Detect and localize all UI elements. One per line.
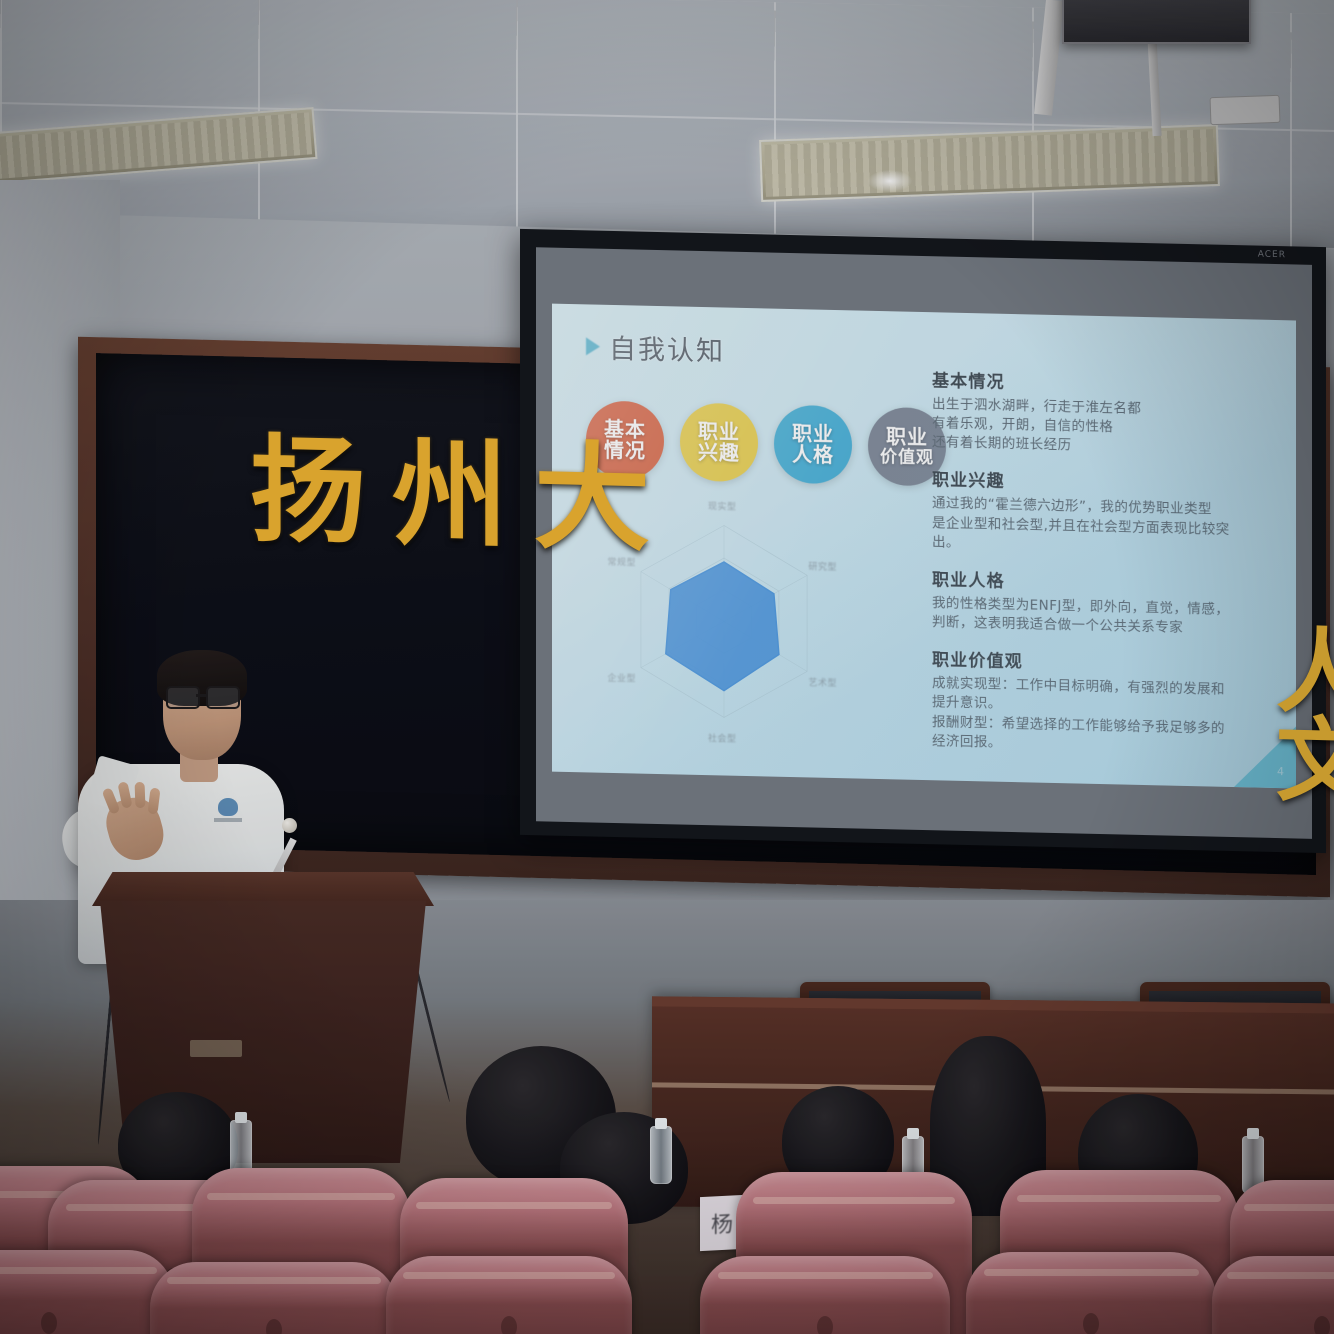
section-heading-1: 职业兴趣 — [932, 466, 1296, 500]
radar-axis-label-1: 研究型 — [808, 559, 837, 573]
screen-brand-label: ACER — [1258, 250, 1286, 261]
triangle-right-icon — [586, 337, 600, 355]
seat-row-front-2 — [150, 1262, 398, 1334]
slide-title-row: 自我认知 — [586, 326, 725, 368]
microphone-head — [282, 818, 297, 833]
topic-circle-career-personality: 职业人格 — [774, 405, 852, 485]
venue-char-2: 大 — [534, 439, 650, 558]
circle-label-line1: 职业 — [886, 427, 928, 449]
venue-char-1: 州 — [392, 436, 508, 555]
section-heading-2: 职业人格 — [932, 565, 1296, 599]
radar-axis-label-2: 艺术型 — [808, 675, 837, 689]
venue-char-0: 扬 — [250, 432, 366, 551]
glasses-lens-right — [206, 686, 240, 709]
section-body-0: 出生于泗水湖畔，行走于淮左名都有着乐观，开朗，自信的性格还有着长期的班长经历 — [932, 395, 1296, 461]
seat-row-front-5 — [966, 1252, 1216, 1334]
glasses-bridge — [196, 694, 208, 697]
venue-name-characters: 扬州大 — [250, 432, 650, 558]
radar-axis-label-4: 企业型 — [608, 671, 637, 685]
page-title: 自我认知 — [609, 327, 725, 369]
ceiling-projector — [1062, 0, 1251, 44]
section-heading-3: 职业价值观 — [932, 645, 1296, 679]
glasses-icon — [166, 686, 240, 706]
section-heading-0: 基本情况 — [932, 366, 1296, 400]
podium-plate — [190, 1040, 242, 1057]
seat-row-front-1 — [0, 1250, 174, 1334]
water-bottle-4 — [650, 1126, 672, 1184]
finger-3 — [135, 782, 146, 808]
topic-circle-career-interest: 职业兴趣 — [680, 402, 758, 482]
seat-row-front-3 — [386, 1256, 632, 1334]
glasses-lens-left — [166, 686, 200, 709]
screen-inner-border: 自我认知 基本情况职业兴趣职业人格职业价值观 现实型研究型艺术型社会型企业型常规… — [536, 247, 1312, 839]
radar-axis-label-3: 社会型 — [708, 731, 737, 745]
section-body-1: 通过我的“霍兰德六边形”，我的优势职业类型是企业型和社会型,并且在社会型方面表现… — [932, 495, 1296, 561]
circle-label-line2: 人格 — [792, 444, 834, 466]
projector-housing — [1210, 95, 1281, 125]
seat-row-front-6 — [1212, 1256, 1334, 1334]
venue-char-right-0: 人 — [1276, 629, 1334, 716]
section-body-2: 我的性格类型为ENFJ型，即外向，直觉，情感，判断，这表明我适合做一个公共关系专… — [932, 594, 1296, 641]
shirt-logo-text — [214, 818, 242, 822]
presentation-slide: 自我认知 基本情况职业兴趣职业人格职业价值观 现实型研究型艺术型社会型企业型常规… — [552, 304, 1296, 789]
slide-text-column: 基本情况出生于泗水湖畔，行走于淮左名都有着乐观，开朗，自信的性格还有着长期的班长… — [932, 366, 1296, 771]
venue-name-characters-right: 人文 — [1276, 629, 1334, 804]
seat-row-front-4 — [700, 1256, 950, 1334]
light-glow — [868, 170, 912, 192]
venue-char-right-1: 文 — [1276, 718, 1334, 805]
circle-label-line2: 兴趣 — [698, 442, 740, 464]
lecture-hall-photo: 扬州大 人文 ACER 自我认知 基本情况职业兴趣职业人格职业价值观 现实型研究… — [0, 0, 1334, 1334]
circle-label-line2: 价值观 — [880, 448, 934, 467]
radar-axis-label-0: 现实型 — [708, 499, 737, 513]
ceiling — [0, 0, 1334, 250]
shirt-logo-icon — [218, 798, 238, 816]
